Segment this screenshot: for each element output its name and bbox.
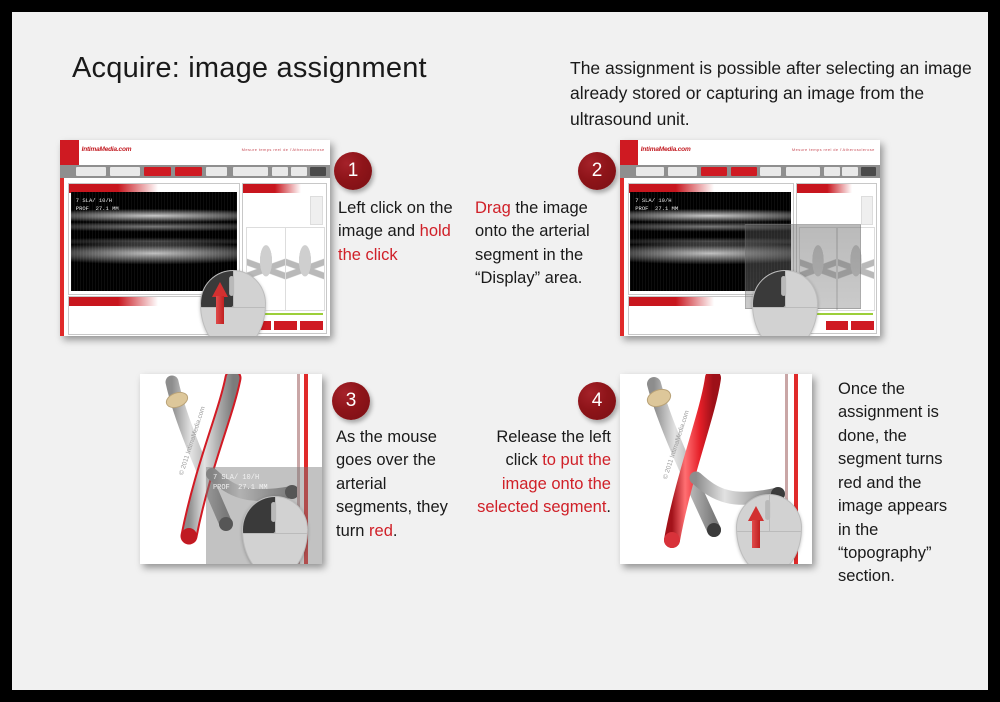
ghost-overlay-text: 7 SLA/ 10/H PROF 27.1 MM <box>213 473 268 494</box>
mouse-wheel <box>271 502 277 522</box>
artery-map-right[interactable] <box>285 227 325 311</box>
nav-item-patient[interactable] <box>636 167 665 176</box>
app-left-rail <box>60 178 64 336</box>
app-tagline: Mesure temps reel de l'Atherosclerose <box>792 147 875 152</box>
body-silhouette-icon <box>310 196 323 225</box>
step-text-4: Release the left click to put the image … <box>474 426 611 520</box>
mouse-icon <box>752 270 818 336</box>
step-4-screenshot: © 2011 IntimaMedia.com <box>620 374 812 564</box>
app-window-2: IntimaMedia.com Mesure temps reel de l'A… <box>620 140 880 336</box>
nav-item-profil[interactable] <box>760 167 781 176</box>
app-left-rail <box>620 178 624 336</box>
app-logo-block <box>620 140 638 165</box>
step-2-screenshot: IntimaMedia.com Mesure temps reel de l'A… <box>620 140 880 336</box>
app-navbar <box>620 165 880 178</box>
artery-diagram-3[interactable]: © 2011 IntimaMedia.com 7 SLA/ 10/H PROF … <box>140 374 322 564</box>
mouse-seam <box>737 531 801 532</box>
nav-item-credits[interactable] <box>291 167 307 176</box>
mouse-icon <box>736 494 802 564</box>
step-text-3-part-2: red <box>369 522 393 540</box>
nav-item-acquire[interactable] <box>668 167 697 176</box>
intro-paragraph: The assignment is possible after selecti… <box>570 56 982 132</box>
step-text-4-part-3: . <box>606 498 611 516</box>
mouse-seam <box>243 533 307 534</box>
artery-diagram-4[interactable]: © 2011 IntimaMedia.com <box>620 374 812 564</box>
nav-item-manuel[interactable] <box>272 167 288 176</box>
up-arrow-icon <box>212 282 228 324</box>
app-window-1: IntimaMedia.com Mesure temps reel de l'A… <box>60 140 330 336</box>
nav-item-mesure[interactable] <box>701 167 727 176</box>
step-text-2-part-1: Drag <box>475 199 511 217</box>
step-1-screenshot: IntimaMedia.com Mesure temps reel de l'A… <box>60 140 330 336</box>
step-badge-3: 3 <box>332 382 370 420</box>
app-logo: IntimaMedia.com <box>82 146 132 153</box>
step-text-3: As the mouse goes over the arterial segm… <box>336 426 464 543</box>
mouse-seam <box>201 307 265 308</box>
step-badge-2: 2 <box>578 152 616 190</box>
nav-item-mesure[interactable] <box>144 167 171 176</box>
app-topbar: IntimaMedia.com Mesure temps reel de l'A… <box>60 140 330 166</box>
app-navbar <box>60 165 330 178</box>
nav-item-manuel[interactable] <box>824 167 840 176</box>
button-retirer[interactable] <box>825 320 849 331</box>
mouse-wheel <box>765 500 771 520</box>
step-badge-4: 4 <box>578 382 616 420</box>
nav-item-account[interactable] <box>786 167 820 176</box>
panel-display-header <box>243 184 301 193</box>
step-3-screenshot: © 2011 IntimaMedia.com 7 SLA/ 10/H PROF … <box>140 374 322 564</box>
ultrasound-overlay-text: 7 SLA/ 10/H PROF 27.1 MM <box>635 197 678 214</box>
mouse-icon <box>200 270 266 336</box>
panel-measures-header <box>629 297 714 306</box>
panel-measures-header <box>69 297 157 306</box>
nav-item-account[interactable] <box>233 167 268 176</box>
app-logo: IntimaMedia.com <box>641 146 691 153</box>
page-title: Acquire: image assignment <box>72 52 427 85</box>
conclusion-text: Once the assignment is done, the segment… <box>838 378 962 589</box>
step-text-1: Left click on the image and hold the cli… <box>338 197 458 267</box>
mouse-icon <box>242 496 308 564</box>
app-logo-block <box>60 140 79 165</box>
step-text-2: Drag the image onto the arterial segment… <box>475 197 600 291</box>
step-badge-1: 1 <box>334 152 372 190</box>
app-topbar: IntimaMedia.com Mesure temps reel de l'A… <box>620 140 880 166</box>
nav-item-rapport[interactable] <box>731 167 757 176</box>
step-text-3-part-3: . <box>393 522 398 540</box>
button-retirer[interactable] <box>273 320 298 331</box>
nav-item-credits[interactable] <box>842 167 858 176</box>
nav-item-deconnexion[interactable] <box>310 167 326 176</box>
nav-item-acquire[interactable] <box>110 167 140 176</box>
nav-item-rapport[interactable] <box>175 167 202 176</box>
mouse-seam <box>753 307 817 308</box>
nav-item-deconnexion[interactable] <box>861 167 877 176</box>
nav-item-profil[interactable] <box>206 167 228 176</box>
body-silhouette-icon <box>861 196 873 225</box>
nav-item-patient[interactable] <box>76 167 106 176</box>
mouse-wheel <box>229 276 235 296</box>
slide-canvas: Acquire: image assignment The assignment… <box>12 12 988 690</box>
button-archiver[interactable] <box>299 320 324 331</box>
step-text-4-part-2: to put the image onto the selected segme… <box>477 451 611 516</box>
mouse-wheel <box>781 276 787 296</box>
ultrasound-overlay-text: 7 SLA/ 10/H PROF 27.1 MM <box>76 197 119 214</box>
app-tagline: Mesure temps reel de l'Atherosclerose <box>242 147 325 152</box>
panel-display-header <box>797 184 853 193</box>
button-archiver[interactable] <box>850 320 874 331</box>
up-arrow-icon <box>748 506 764 548</box>
